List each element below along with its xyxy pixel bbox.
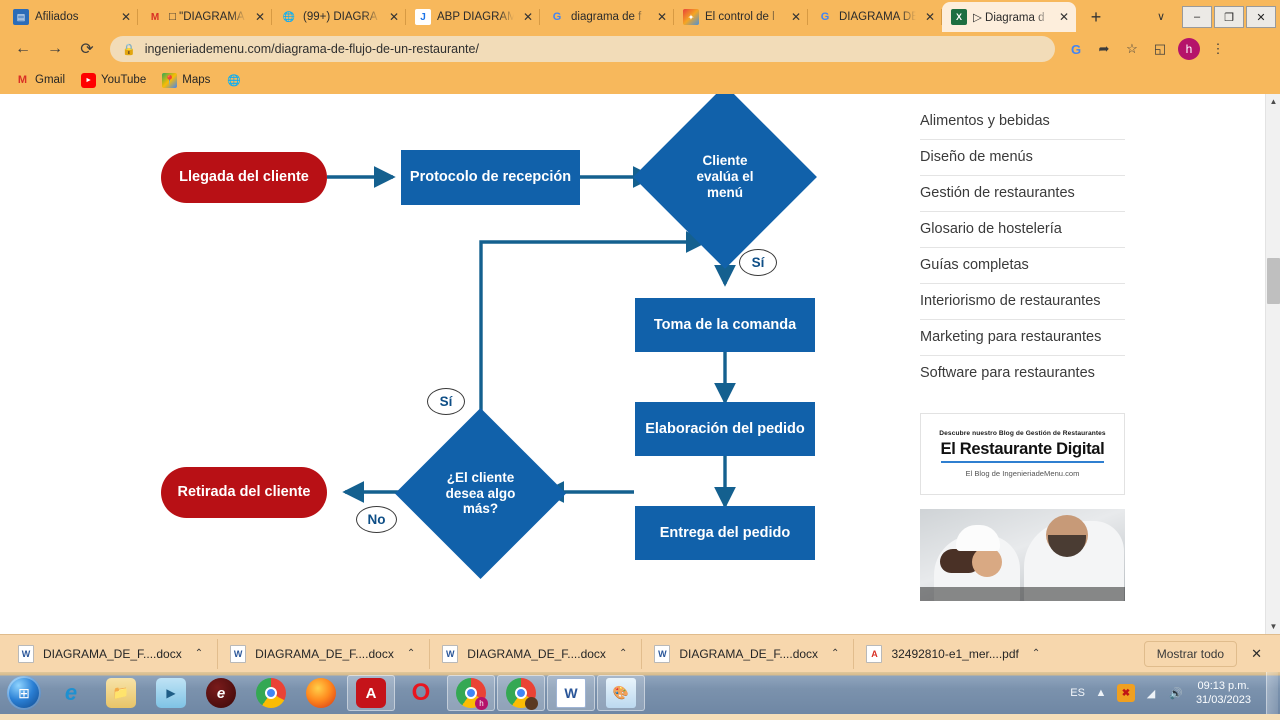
taskbar-app-paint[interactable]: 🎨: [597, 675, 645, 711]
close-icon[interactable]: ✕: [654, 9, 670, 25]
close-window-button[interactable]: ✕: [1246, 6, 1276, 28]
close-icon[interactable]: ✕: [922, 9, 938, 25]
sidebar-item-interiorismo-de-restaurantes[interactable]: Interiorismo de restaurantes: [920, 284, 1125, 320]
browser-tab-3[interactable]: 🌐 (99+) DIAGRA ✕: [272, 2, 406, 32]
address-bar[interactable]: 🔒 ingenieriademenu.com/diagrama-de-flujo…: [110, 36, 1055, 62]
download-item-2[interactable]: W DIAGRAMA_DE_F....docx ⌃: [218, 639, 430, 669]
tab-list-icon[interactable]: ∨: [1150, 5, 1172, 27]
node-label: Llegada del cliente: [179, 169, 309, 186]
windows-logo-icon: ⊞: [7, 676, 41, 710]
show-desktop-button[interactable]: [1266, 672, 1278, 714]
minimize-button[interactable]: –: [1182, 6, 1212, 28]
downloads-shelf: W DIAGRAMA_DE_F....docx ⌃ W DIAGRAMA_DE_…: [0, 634, 1280, 672]
word-document-icon: W: [654, 645, 670, 663]
sidebar-item-label: Software para restaurantes: [920, 365, 1095, 381]
jamboard-icon: J: [415, 9, 431, 25]
side-panel-icon[interactable]: ◱: [1147, 36, 1173, 62]
taskbar-app-firefox[interactable]: [297, 675, 345, 711]
clock-date: 31/03/2023: [1196, 693, 1251, 707]
google-icon: G: [817, 9, 833, 25]
paint-icon: 🎨: [606, 678, 636, 708]
tab-title: DIAGRAMA DE: [839, 11, 916, 23]
show-all-downloads-button[interactable]: Mostrar todo: [1144, 641, 1237, 667]
share-icon[interactable]: ➦: [1091, 36, 1117, 62]
browser-tab-7[interactable]: G DIAGRAMA DE ✕: [808, 2, 942, 32]
window-controls: – ❐ ✕: [1182, 6, 1276, 28]
flow-node-llegada-del-cliente: Llegada del cliente: [161, 152, 327, 203]
sidebar-item-label: Gestión de restaurantes: [920, 185, 1075, 201]
flow-node-cliente-evalua-el-menu: Cliente evalúa el menú: [660, 112, 790, 242]
tab-title: diagrama de f: [571, 11, 648, 23]
opera-icon: O: [406, 678, 436, 708]
flow-node-el-cliente-desea-algo-mas: ¿El cliente desea algo más?: [420, 433, 541, 554]
close-downloads-shelf-button[interactable]: ✕: [1237, 646, 1274, 662]
browser-tab-5[interactable]: G diagrama de f ✕: [540, 2, 674, 32]
bookmark-globe[interactable]: 🌐: [219, 70, 253, 91]
browser-tab-8-active[interactable]: X ▷ Diagrama d ✕: [942, 2, 1076, 32]
forward-button[interactable]: →: [40, 35, 70, 63]
sidebar-item-marketing-para-restaurantes[interactable]: Marketing para restaurantes: [920, 320, 1125, 356]
new-tab-button[interactable]: +: [1082, 3, 1110, 31]
clock[interactable]: 09:13 p.m. 31/03/2023: [1192, 679, 1255, 707]
node-label: Toma de la comanda: [654, 317, 796, 334]
flow-node-protocolo-de-recepcion: Protocolo de recepción: [401, 150, 580, 205]
back-button[interactable]: ←: [8, 35, 38, 63]
chevron-up-icon[interactable]: ⌃: [195, 648, 203, 659]
sidebar-item-alimentos-y-bebidas[interactable]: Alimentos y bebidas: [920, 104, 1125, 140]
tray-overflow-icon[interactable]: ▲: [1092, 684, 1110, 702]
microsoft-word-icon: W: [556, 678, 586, 708]
sidebar-item-label: Interiorismo de restaurantes: [920, 293, 1101, 309]
file-explorer-icon: 📁: [106, 678, 136, 708]
system-tray: ES ▲ ✖ ◢ 🔊 09:13 p.m. 31/03/2023: [1060, 672, 1280, 714]
browser-menu-icon[interactable]: ⋮: [1205, 36, 1231, 62]
flow-node-toma-de-la-comanda: Toma de la comanda: [635, 298, 815, 352]
browser-chrome: ▤ Afiliados ✕ M □ "DIAGRAMA ✕ 🌐 (99+) DI…: [0, 0, 1280, 94]
taskbar-app-opera[interactable]: O: [397, 675, 445, 711]
tab-title: ▷ Diagrama d: [973, 10, 1050, 24]
google-icon: G: [549, 9, 565, 25]
chevron-up-icon[interactable]: ⌃: [619, 648, 627, 659]
antivirus-icon[interactable]: ✖: [1117, 684, 1135, 702]
chefs-photo[interactable]: [920, 509, 1125, 601]
close-icon[interactable]: ✕: [788, 9, 804, 25]
google-lens-icon[interactable]: G: [1063, 36, 1089, 62]
url-text: ingenieriademenu.com/diagrama-de-flujo-d…: [145, 42, 1043, 56]
media-player-icon: ▶: [156, 678, 186, 708]
globe-icon: 🌐: [226, 73, 241, 88]
sidebar-item-glosario-de-hosteleria[interactable]: Glosario de hostelería: [920, 212, 1125, 248]
pdf-document-icon: A: [866, 645, 882, 663]
node-label: Retirada del cliente: [178, 484, 311, 501]
chef-face-left: [972, 547, 1002, 577]
bookmark-maps[interactable]: 📍 Maps: [155, 70, 217, 91]
gmail-icon: M: [15, 73, 30, 88]
promo-title: El Restaurante Digital: [941, 440, 1105, 463]
close-icon[interactable]: ✕: [520, 9, 536, 25]
network-icon[interactable]: ◢: [1142, 684, 1160, 702]
bookmarks-bar: M Gmail ► YouTube 📍 Maps 🌐: [0, 66, 1280, 94]
close-icon[interactable]: ✕: [1056, 9, 1072, 25]
word-document-icon: W: [442, 645, 458, 663]
maps-icon: 📍: [162, 73, 177, 88]
edge-label-si-top: Sí: [739, 249, 777, 276]
word-document-icon: W: [18, 645, 34, 663]
taskbar-app-chrome-profile-2[interactable]: [497, 675, 545, 711]
bookmark-label: YouTube: [101, 74, 146, 86]
language-indicator[interactable]: ES: [1070, 687, 1085, 699]
bookmark-label: Maps: [182, 74, 210, 86]
bookmark-youtube[interactable]: ► YouTube: [74, 70, 153, 91]
scrollbar-thumb[interactable]: [1267, 258, 1280, 304]
lock-icon: 🔒: [122, 43, 136, 56]
browser-tab-6[interactable]: ✦ El control de l ✕: [674, 2, 808, 32]
node-label: Cliente evalúa el menú: [696, 153, 753, 201]
reload-button[interactable]: ⟳: [72, 35, 102, 63]
download-file-name: DIAGRAMA_DE_F....docx: [467, 647, 606, 661]
download-file-name: 32492810-e1_mer....pdf: [891, 647, 1018, 661]
avatar[interactable]: h: [1178, 38, 1200, 60]
taskbar-app-chrome-profile-h[interactable]: h: [447, 675, 495, 711]
download-item-3[interactable]: W DIAGRAMA_DE_F....docx ⌃: [430, 639, 642, 669]
bookmark-gmail[interactable]: M Gmail: [8, 70, 72, 91]
bookmark-star-icon[interactable]: ☆: [1119, 36, 1145, 62]
chevron-up-icon[interactable]: ⌃: [831, 648, 839, 659]
promo-kicker: Descubre nuestro Blog de Gestión de Rest…: [939, 430, 1105, 437]
promo-banner-el-restaurante-digital[interactable]: Descubre nuestro Blog de Gestión de Rest…: [920, 413, 1125, 495]
node-label: ¿El cliente desea algo más?: [446, 470, 516, 518]
counter-surface: [920, 587, 1125, 601]
youtube-icon: ►: [81, 73, 96, 88]
chevron-up-icon[interactable]: ⌃: [407, 648, 415, 659]
close-icon[interactable]: ✕: [386, 9, 402, 25]
close-icon[interactable]: ✕: [118, 9, 134, 25]
download-file-name: DIAGRAMA_DE_F....docx: [255, 647, 394, 661]
sidebar-item-label: Diseño de menús: [920, 149, 1033, 165]
browser-tab-4[interactable]: J ABP DIAGRAM ✕: [406, 2, 540, 32]
edge-label-si-left: Sí: [427, 388, 465, 415]
taskbar-app-adobe-acrobat[interactable]: A: [347, 675, 395, 711]
bookmark-label: Gmail: [35, 74, 65, 86]
sidebar: Alimentos y bebidas Diseño de menús Gest…: [900, 94, 1280, 634]
tab-strip: ▤ Afiliados ✕ M □ "DIAGRAMA ✕ 🌐 (99+) DI…: [0, 0, 1280, 32]
volume-icon[interactable]: 🔊: [1167, 684, 1185, 702]
sidebar-item-label: Glosario de hostelería: [920, 221, 1062, 237]
sidebar-item-label: Guías completas: [920, 257, 1029, 273]
adobe-acrobat-icon: A: [356, 678, 386, 708]
download-item-4[interactable]: W DIAGRAMA_DE_F....docx ⌃: [642, 639, 854, 669]
word-document-icon: W: [230, 645, 246, 663]
flow-node-retirada-del-cliente: Retirada del cliente: [161, 467, 327, 518]
node-label: Elaboración del pedido: [645, 421, 805, 438]
profile-badge-photo: [525, 697, 538, 710]
chrome-icon: h: [456, 678, 486, 708]
start-button[interactable]: ⊞: [2, 674, 46, 712]
sidebar-item-diseno-de-menus[interactable]: Diseño de menús: [920, 140, 1125, 176]
excel-icon: X: [951, 9, 967, 25]
download-file-name: DIAGRAMA_DE_F....docx: [679, 647, 818, 661]
edge-label-no: No: [356, 506, 397, 533]
page-scrollbar[interactable]: ▲ ▼: [1265, 94, 1280, 634]
chrome-icon: [256, 678, 286, 708]
promo-subtitle: El Blog de IngenieriadeMenu.com: [966, 469, 1080, 478]
taskbar-app-media-player[interactable]: ▶: [147, 675, 195, 711]
tab-title: (99+) DIAGRA: [303, 11, 380, 23]
flow-node-entrega-del-pedido: Entrega del pedido: [635, 506, 815, 560]
clock-time: 09:13 p.m.: [1196, 679, 1251, 693]
tab-title: El control de l: [705, 11, 782, 23]
chef-hat-left: [956, 525, 1000, 551]
node-label: Entrega del pedido: [660, 525, 791, 542]
tab-title: Afiliados: [35, 11, 112, 23]
download-item-5[interactable]: A 32492810-e1_mer....pdf ⌃: [854, 639, 1054, 669]
scrollbar-down-arrow-icon[interactable]: ▼: [1266, 619, 1280, 634]
chevron-up-icon[interactable]: ⌃: [1032, 648, 1040, 659]
tab-title: ABP DIAGRAM: [437, 11, 514, 23]
generic-blue-icon: ▤: [13, 9, 29, 25]
tab-title: □ "DIAGRAMA: [169, 11, 246, 23]
legacy-edge-icon: e: [206, 678, 236, 708]
taskbar-app-legacy-edge[interactable]: e: [197, 675, 245, 711]
taskbar-app-internet-explorer[interactable]: e: [47, 675, 95, 711]
browser-tab-1[interactable]: ▤ Afiliados ✕: [4, 2, 138, 32]
windows-taskbar: ⊞ e 📁 ▶ e A O h W: [0, 672, 1280, 714]
globe-icon: 🌐: [281, 9, 297, 25]
sidebar-item-label: Alimentos y bebidas: [920, 113, 1050, 129]
sidebar-item-software-para-restaurantes[interactable]: Software para restaurantes: [920, 356, 1125, 391]
download-item-1[interactable]: W DIAGRAMA_DE_F....docx ⌃: [6, 639, 218, 669]
sidebar-item-guias-completas[interactable]: Guías completas: [920, 248, 1125, 284]
profile-badge-h: h: [475, 697, 488, 710]
browser-toolbar: ← → ⟳ 🔒 ingenieriademenu.com/diagrama-de…: [0, 32, 1280, 66]
download-file-name: DIAGRAMA_DE_F....docx: [43, 647, 182, 661]
taskbar-app-file-explorer[interactable]: 📁: [97, 675, 145, 711]
colorful-icon: ✦: [683, 9, 699, 25]
chrome-icon: [506, 678, 536, 708]
flow-node-elaboracion-del-pedido: Elaboración del pedido: [635, 402, 815, 456]
gmail-icon: M: [147, 9, 163, 25]
node-label: Protocolo de recepción: [410, 169, 571, 186]
taskbar-app-google-chrome[interactable]: [247, 675, 295, 711]
scrollbar-up-arrow-icon[interactable]: ▲: [1266, 94, 1280, 109]
restaurant-flowchart: Llegada del cliente Protocolo de recepci…: [0, 94, 900, 594]
maximize-button[interactable]: ❐: [1214, 6, 1244, 28]
browser-tab-2[interactable]: M □ "DIAGRAMA ✕: [138, 2, 272, 32]
internet-explorer-icon: e: [56, 678, 86, 708]
close-icon[interactable]: ✕: [252, 9, 268, 25]
sidebar-item-label: Marketing para restaurantes: [920, 329, 1101, 345]
page-viewport: Llegada del cliente Protocolo de recepci…: [0, 94, 1280, 634]
taskbar-app-microsoft-word[interactable]: W: [547, 675, 595, 711]
sidebar-item-gestion-de-restaurantes[interactable]: Gestión de restaurantes: [920, 176, 1125, 212]
firefox-icon: [306, 678, 336, 708]
article-content: Llegada del cliente Protocolo de recepci…: [0, 94, 900, 634]
